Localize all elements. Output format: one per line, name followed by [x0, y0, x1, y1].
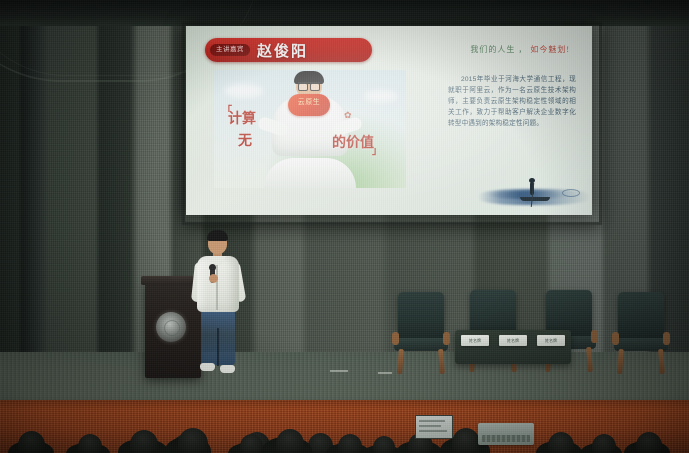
glasses-icon: [298, 82, 320, 89]
slide-biography-text: 2015年毕业于河海大学通信工程，现就职于阿里云，作为一名云原生技术架构师，主要…: [448, 74, 576, 129]
audience-head: [130, 430, 158, 453]
ink-boat-shape: [520, 197, 550, 201]
laptop-screen-line: [419, 425, 441, 427]
chair-leg-left: [397, 349, 404, 374]
audience-laptop: [415, 415, 451, 441]
projection-screen: 主讲嘉宾 赵俊阳 我们的人生 ， 如今魅划! 云原生 「 计算 无: [186, 26, 592, 215]
audience-head: [452, 428, 480, 453]
presenter-figure: [192, 232, 244, 380]
butterfly-icon: ✿: [344, 110, 354, 119]
institution-seal-emblem: [156, 312, 186, 342]
conference-stage-photo: 主讲嘉宾 赵俊阳 我们的人生 ， 如今魅划! 云原生 「 计算 无: [0, 0, 689, 453]
calligraphy-separator: ，: [518, 45, 527, 54]
laptop-screen-line: [419, 430, 447, 432]
audience-head: [78, 434, 102, 453]
cloud-shape: [364, 90, 398, 102]
presenter-hand: [209, 274, 218, 283]
presenter-shirt-placket: [216, 262, 218, 310]
chair-back: [618, 292, 664, 340]
slide-decorative-calligraphy: 我们的人生 ， 如今魅划!: [470, 44, 570, 55]
calligraphy-word-3: 的价值: [332, 132, 374, 152]
chair-leg-left: [617, 349, 624, 374]
speaker-name-badge: 主讲嘉宾 赵俊阳: [205, 38, 372, 62]
calligraphy-word-1: 计算: [228, 108, 256, 128]
audience-head: [178, 428, 208, 453]
name-card: 姓名牌: [499, 335, 527, 346]
calligraphy-right-text: 如今魅划!: [530, 45, 570, 54]
chair-arm-left: [612, 332, 619, 345]
chair-arm-right: [663, 332, 670, 345]
audience-head: [592, 434, 616, 453]
name-card: 姓名牌: [537, 335, 565, 346]
stage-chair: [392, 292, 450, 374]
floor-mark: [378, 372, 392, 374]
chair-leg-right: [438, 349, 445, 374]
ink-ripple-shape: [562, 189, 580, 197]
calligraphy-word-2: 无: [238, 130, 252, 150]
ink-wash-painting: [478, 157, 590, 213]
floor-mark: [330, 370, 348, 372]
chair-arm-left: [392, 332, 399, 345]
laptop-screen-line: [419, 420, 445, 422]
calligraphy-left-text: 我们的人生: [470, 45, 515, 54]
illustration-figure-lap: [264, 158, 356, 188]
chair-arm-right: [591, 330, 598, 343]
presenter-leg-split: [217, 328, 219, 366]
presenter-hair: [207, 230, 228, 241]
laptop-screen: [415, 415, 453, 439]
badge-tag-label: 主讲嘉宾: [210, 44, 250, 57]
presenter-shoe-right: [220, 365, 235, 373]
audience-area: [0, 400, 689, 453]
speaker-name-text: 赵俊阳: [257, 40, 308, 61]
audience-head: [240, 434, 263, 453]
scarf-text: 云原生: [288, 99, 330, 106]
audience-head: [338, 434, 362, 453]
audience-head: [276, 429, 304, 453]
chair-leg-right: [586, 347, 593, 372]
audience-head: [18, 431, 45, 453]
audience-head: [373, 436, 395, 453]
chair-arm-right: [443, 332, 450, 345]
presenter-shoe-left: [200, 363, 215, 371]
chair-back: [398, 292, 444, 340]
quote-close-mark: 」: [372, 142, 382, 157]
chair-leg-right: [658, 349, 665, 374]
audience-control-console: [478, 423, 534, 445]
stage-coffee-table: 姓名牌 姓名牌 姓名牌: [455, 330, 571, 364]
stage-chair: [612, 292, 670, 374]
console-keyboard: [482, 435, 530, 442]
name-card: 姓名牌: [461, 335, 489, 346]
audience-head: [548, 432, 574, 453]
cloud-shape: [224, 84, 264, 98]
emblem-inner-ring: [164, 320, 180, 336]
illustration-figure-scarf: 云原生: [288, 94, 330, 116]
slide-illustration-panel: 云原生 「 计算 无 的价值 」 ✿: [214, 70, 406, 188]
audience-head: [636, 432, 662, 453]
